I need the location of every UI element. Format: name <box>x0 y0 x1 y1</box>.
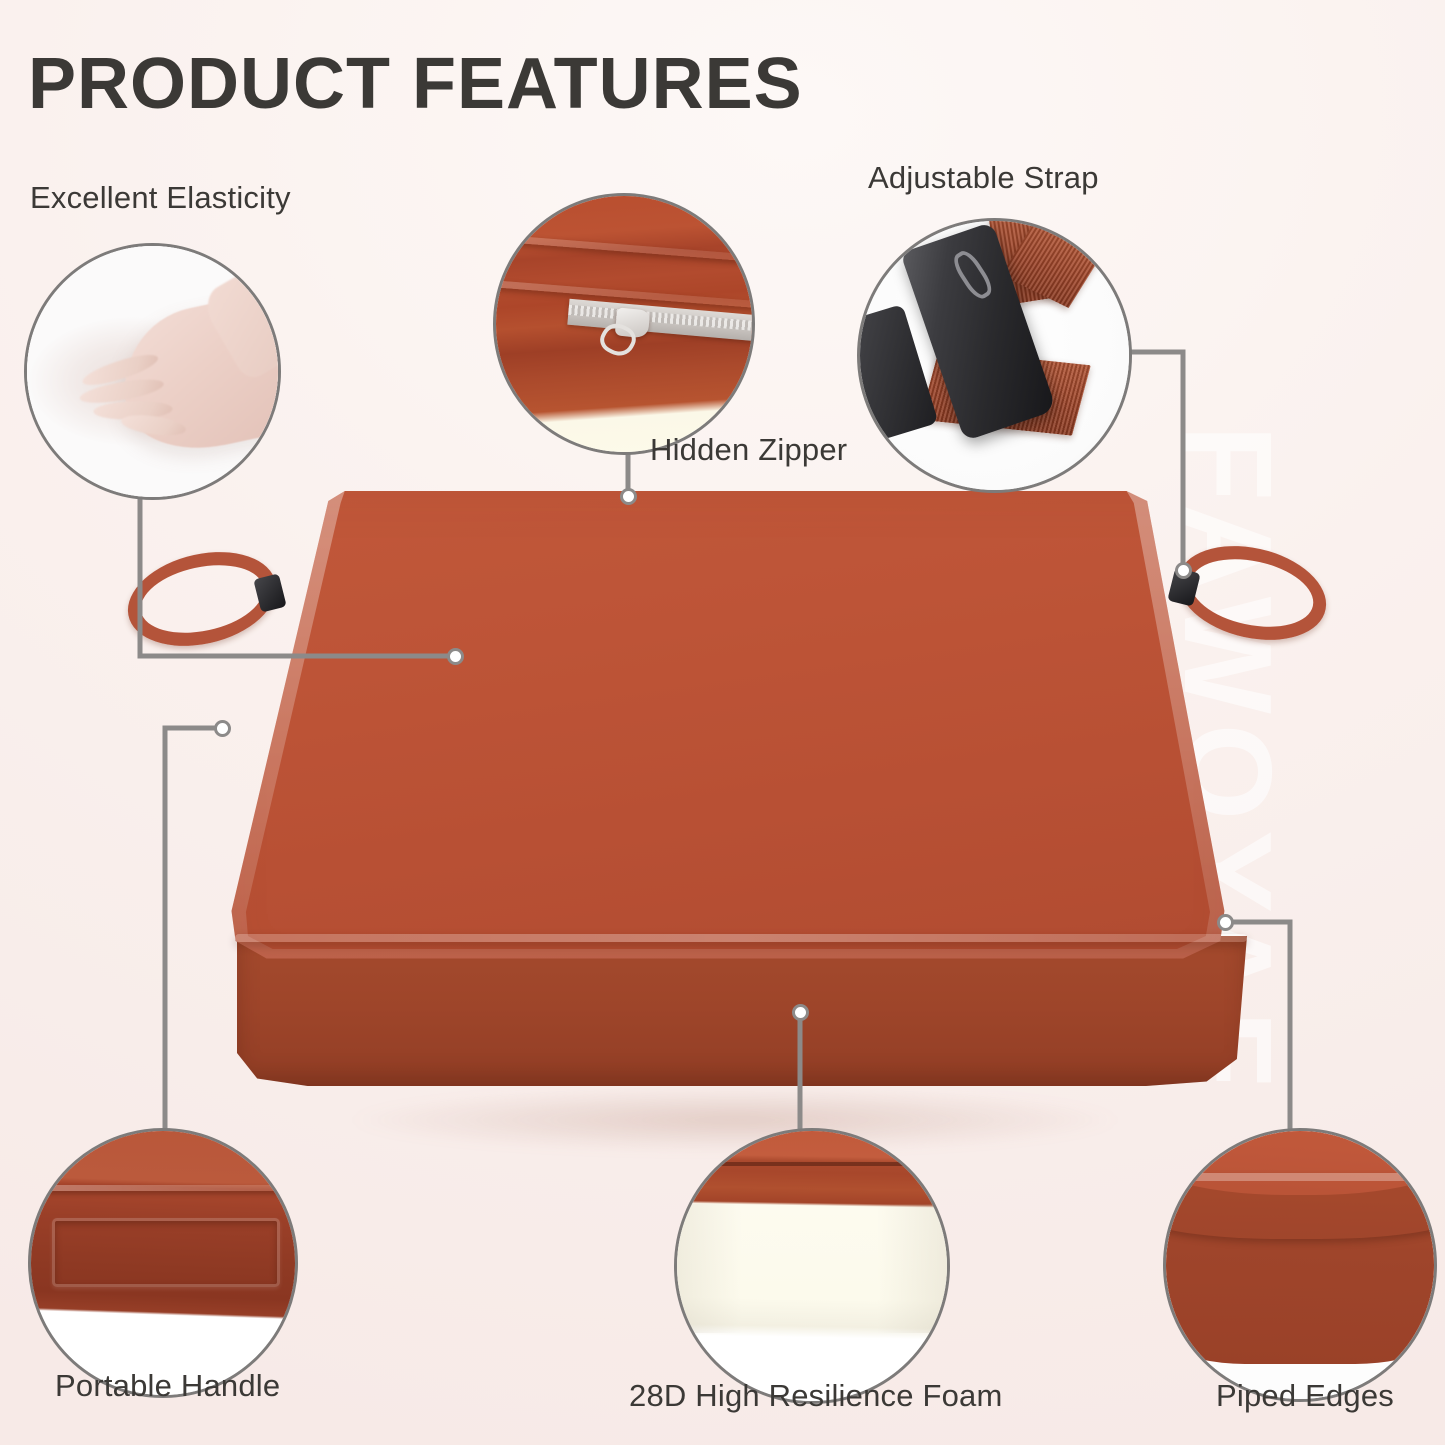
handle-strip-icon <box>31 1131 295 1395</box>
handle-loop-icon <box>1177 536 1327 650</box>
cushion-top-panel <box>215 486 1245 986</box>
cushion-handle-left <box>127 554 277 644</box>
product-cushion <box>215 486 1245 1126</box>
connector-handle <box>165 728 222 1128</box>
feature-label-portable-handle: Portable Handle <box>55 1368 280 1404</box>
hand-icon <box>110 290 281 463</box>
buckle-slot-icon <box>949 246 997 302</box>
fabric-seam-icon <box>674 1162 950 1166</box>
callout-dot-strap <box>1175 562 1192 579</box>
product-features-infographic: FAWOYAF PRODUCT FEATURES <box>0 0 1445 1445</box>
callout-dot-elasticity <box>447 648 464 665</box>
cushion-side-panel <box>237 936 1247 1086</box>
feature-image-high-resilience-foam <box>674 1128 950 1404</box>
callout-dot-zipper <box>620 488 637 505</box>
hand-pressing-foam-icon <box>27 246 278 497</box>
callout-dot-handle <box>214 720 231 737</box>
fabric-seam-icon <box>493 232 755 264</box>
piped-corner-icon <box>1166 1131 1434 1399</box>
page-title: PRODUCT FEATURES <box>28 48 803 120</box>
zipper-teeth-icon <box>568 304 755 335</box>
feature-image-piped-edges <box>1163 1128 1437 1402</box>
fabric-seam-icon <box>28 1185 298 1191</box>
wrist-icon <box>198 260 281 383</box>
cushion-handle-right <box>1177 548 1327 638</box>
callout-dot-piped <box>1217 914 1234 931</box>
buckle-strap-icon <box>860 221 1129 490</box>
handle-strap-icon <box>52 1218 280 1287</box>
callout-dot-foam <box>792 1004 809 1021</box>
handle-loop-icon <box>127 542 277 656</box>
feature-label-excellent-elasticity: Excellent Elasticity <box>30 180 291 216</box>
foam-layer-icon <box>677 1131 947 1401</box>
piping-cord-icon <box>1163 1173 1437 1240</box>
feature-label-piped-edges: Piped Edges <box>1216 1378 1394 1414</box>
feature-label-adjustable-strap: Adjustable Strap <box>868 160 1099 196</box>
feature-image-portable-handle <box>28 1128 298 1398</box>
feature-image-excellent-elasticity <box>24 243 281 500</box>
foam-shading-icon <box>677 1204 947 1334</box>
cushion-bottom-piping <box>235 934 1247 942</box>
finger-icon <box>120 413 187 440</box>
feature-label-high-resilience-foam: 28D High Resilience Foam <box>629 1378 1003 1414</box>
feature-image-hidden-zipper <box>493 193 755 455</box>
feature-image-adjustable-strap <box>857 218 1132 493</box>
feature-label-hidden-zipper: Hidden Zipper <box>650 432 847 468</box>
zipper-icon <box>496 196 752 452</box>
